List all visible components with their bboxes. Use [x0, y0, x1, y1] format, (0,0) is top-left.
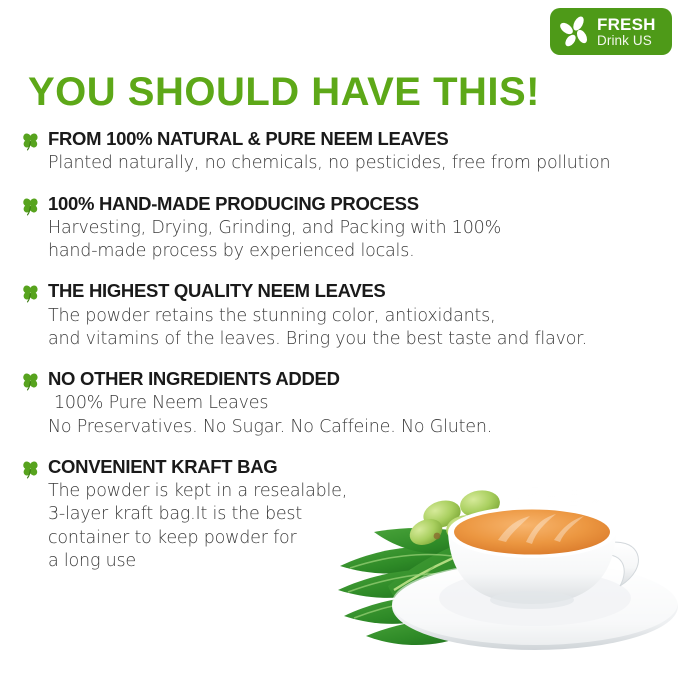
- feature-title: NO OTHER INGREDIENTS ADDED: [48, 368, 679, 389]
- feature-description: Harvesting, Drying, Grinding, and Packin…: [48, 217, 679, 264]
- feature-item: FROM 100% NATURAL & PURE NEEM LEAVESPlan…: [0, 128, 679, 176]
- brand-text-block: FRESH Drink US: [597, 16, 656, 48]
- four-leaf-clover-icon: [20, 196, 41, 217]
- feature-title: THE HIGHEST QUALITY NEEM LEAVES: [48, 280, 679, 301]
- feature-description-line: hand-made process by experienced locals.: [48, 240, 679, 263]
- leaf-cluster-icon: [557, 14, 593, 50]
- feature-description-line: 3-layer kraft bag.It is the best: [48, 503, 679, 526]
- four-leaf-clover-icon: [20, 371, 41, 392]
- feature-title: 100% HAND-MADE PRODUCING PROCESS: [48, 193, 679, 214]
- feature-description-line: container to keep powder for: [48, 527, 679, 550]
- feature-description-line: Planted naturally, no chemicals, no pest…: [48, 152, 679, 175]
- feature-description-line: 100% Pure Neem Leaves: [48, 392, 679, 415]
- feature-description: Planted naturally, no chemicals, no pest…: [48, 152, 679, 175]
- page-title: YOU SHOULD HAVE THIS!: [28, 72, 540, 112]
- feature-description-line: a long use: [48, 550, 679, 573]
- feature-description-line: and vitamins of the leaves. Bring you th…: [48, 328, 679, 351]
- brand-logo[interactable]: FRESH Drink US: [550, 8, 672, 55]
- feature-description: The powder retains the stunning color, a…: [48, 305, 679, 352]
- four-leaf-clover-icon: [20, 459, 41, 480]
- four-leaf-clover-icon: [20, 283, 41, 304]
- feature-item: THE HIGHEST QUALITY NEEM LEAVESThe powde…: [0, 280, 679, 351]
- feature-item: 100% HAND-MADE PRODUCING PROCESSHarvesti…: [0, 193, 679, 264]
- feature-description-line: The powder is kept in a resealable,: [48, 480, 679, 503]
- feature-title: FROM 100% NATURAL & PURE NEEM LEAVES: [48, 128, 679, 149]
- feature-description-line: No Preservatives. No Sugar. No Caffeine.…: [48, 416, 679, 439]
- feature-description: The powder is kept in a resealable,3-lay…: [48, 480, 679, 573]
- feature-item: NO OTHER INGREDIENTS ADDED100% Pure Neem…: [0, 368, 679, 439]
- feature-description-line: The powder retains the stunning color, a…: [48, 305, 679, 328]
- brand-name: FRESH: [597, 16, 656, 33]
- feature-item: CONVENIENT KRAFT BAGThe powder is kept i…: [0, 456, 679, 573]
- feature-description: 100% Pure Neem LeavesNo Preservatives. N…: [48, 392, 679, 439]
- brand-tagline: Drink US: [597, 34, 656, 48]
- feature-description-line: Harvesting, Drying, Grinding, and Packin…: [48, 217, 679, 240]
- four-leaf-clover-icon: [20, 131, 41, 152]
- feature-list: FROM 100% NATURAL & PURE NEEM LEAVESPlan…: [0, 128, 679, 590]
- feature-title: CONVENIENT KRAFT BAG: [48, 456, 679, 477]
